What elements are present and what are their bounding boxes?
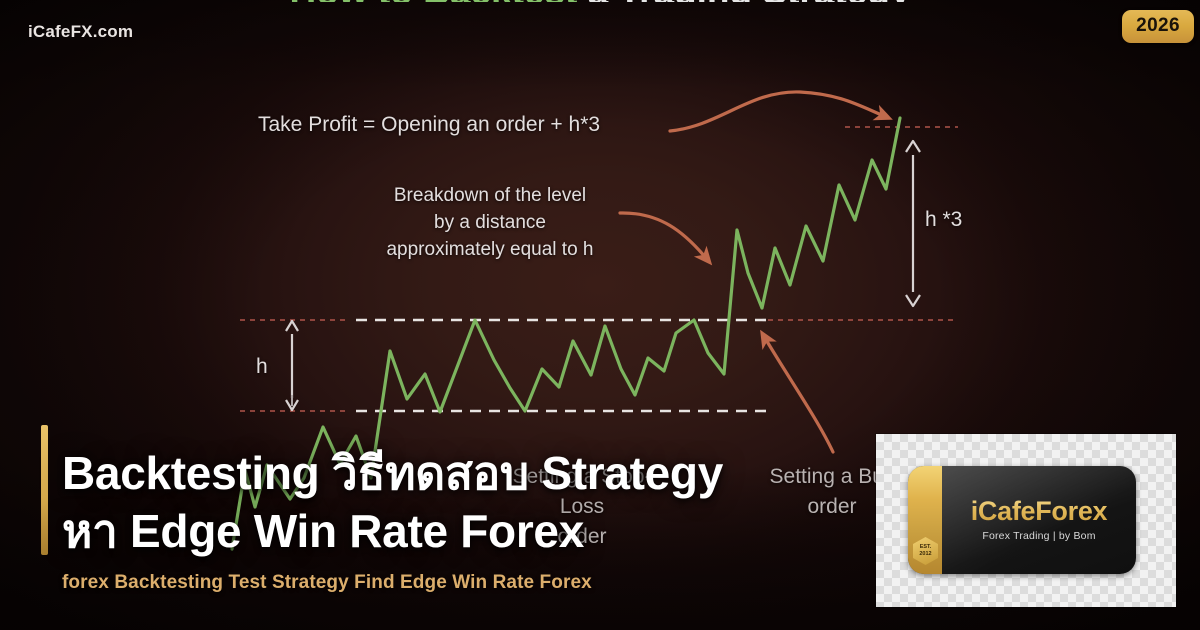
- headline-green-part: How to Backtest: [290, 0, 578, 2]
- est-badge-icon: EST. 2012: [913, 537, 938, 565]
- site-name: iCafeFX.com: [28, 22, 133, 42]
- logo-plate: EST. 2012 iCafeForex Forex Trading | by …: [908, 466, 1136, 574]
- headline-white-part: a Trading Strategy: [577, 0, 910, 2]
- arrow-buy-order: [765, 338, 833, 452]
- year-badge: 2026: [1122, 10, 1194, 43]
- page-title-line2: หา Edge Win Rate Forex: [62, 502, 882, 560]
- range-dashed-lines: [356, 320, 766, 411]
- annotation-breakdown: Breakdown of the level by a distance app…: [355, 182, 625, 263]
- logo-brand-name: iCafeForex: [942, 496, 1136, 527]
- annotation-breakdown-line3: approximately equal to h: [355, 236, 625, 263]
- label-h: h: [256, 355, 268, 379]
- level-dotted-lines: [240, 127, 958, 411]
- logo-card: EST. 2012 iCafeForex Forex Trading | by …: [876, 434, 1176, 607]
- logo-gold-strip: EST. 2012: [908, 466, 942, 574]
- annotation-take-profit: Take Profit = Opening an order + h*3: [258, 113, 600, 137]
- annotation-breakdown-line2: by a distance: [355, 209, 625, 236]
- annotation-breakdown-line1: Breakdown of the level: [355, 182, 625, 209]
- headline: How to Backtest a Trading Strategy: [0, 0, 1200, 2]
- title-block: Backtesting วิธีทดสอบ Strategy หา Edge W…: [62, 444, 882, 594]
- est-badge-line2: 2012: [919, 551, 931, 558]
- page-subtitle: forex Backtesting Test Strategy Find Edg…: [62, 572, 882, 594]
- logo-tagline: Forex Trading | by Bom: [942, 530, 1136, 542]
- arrow-take-profit: [670, 92, 884, 131]
- arrow-breakdown: [620, 213, 706, 258]
- h3-measure-arrow: [906, 141, 920, 306]
- headline-container: How to Backtest a Trading Strategy: [0, 0, 1200, 2]
- label-h3: h *3: [925, 208, 962, 232]
- est-badge-line1: EST.: [920, 544, 932, 551]
- page-title-line1: Backtesting วิธีทดสอบ Strategy: [62, 444, 882, 502]
- gold-accent-bar: [41, 425, 48, 555]
